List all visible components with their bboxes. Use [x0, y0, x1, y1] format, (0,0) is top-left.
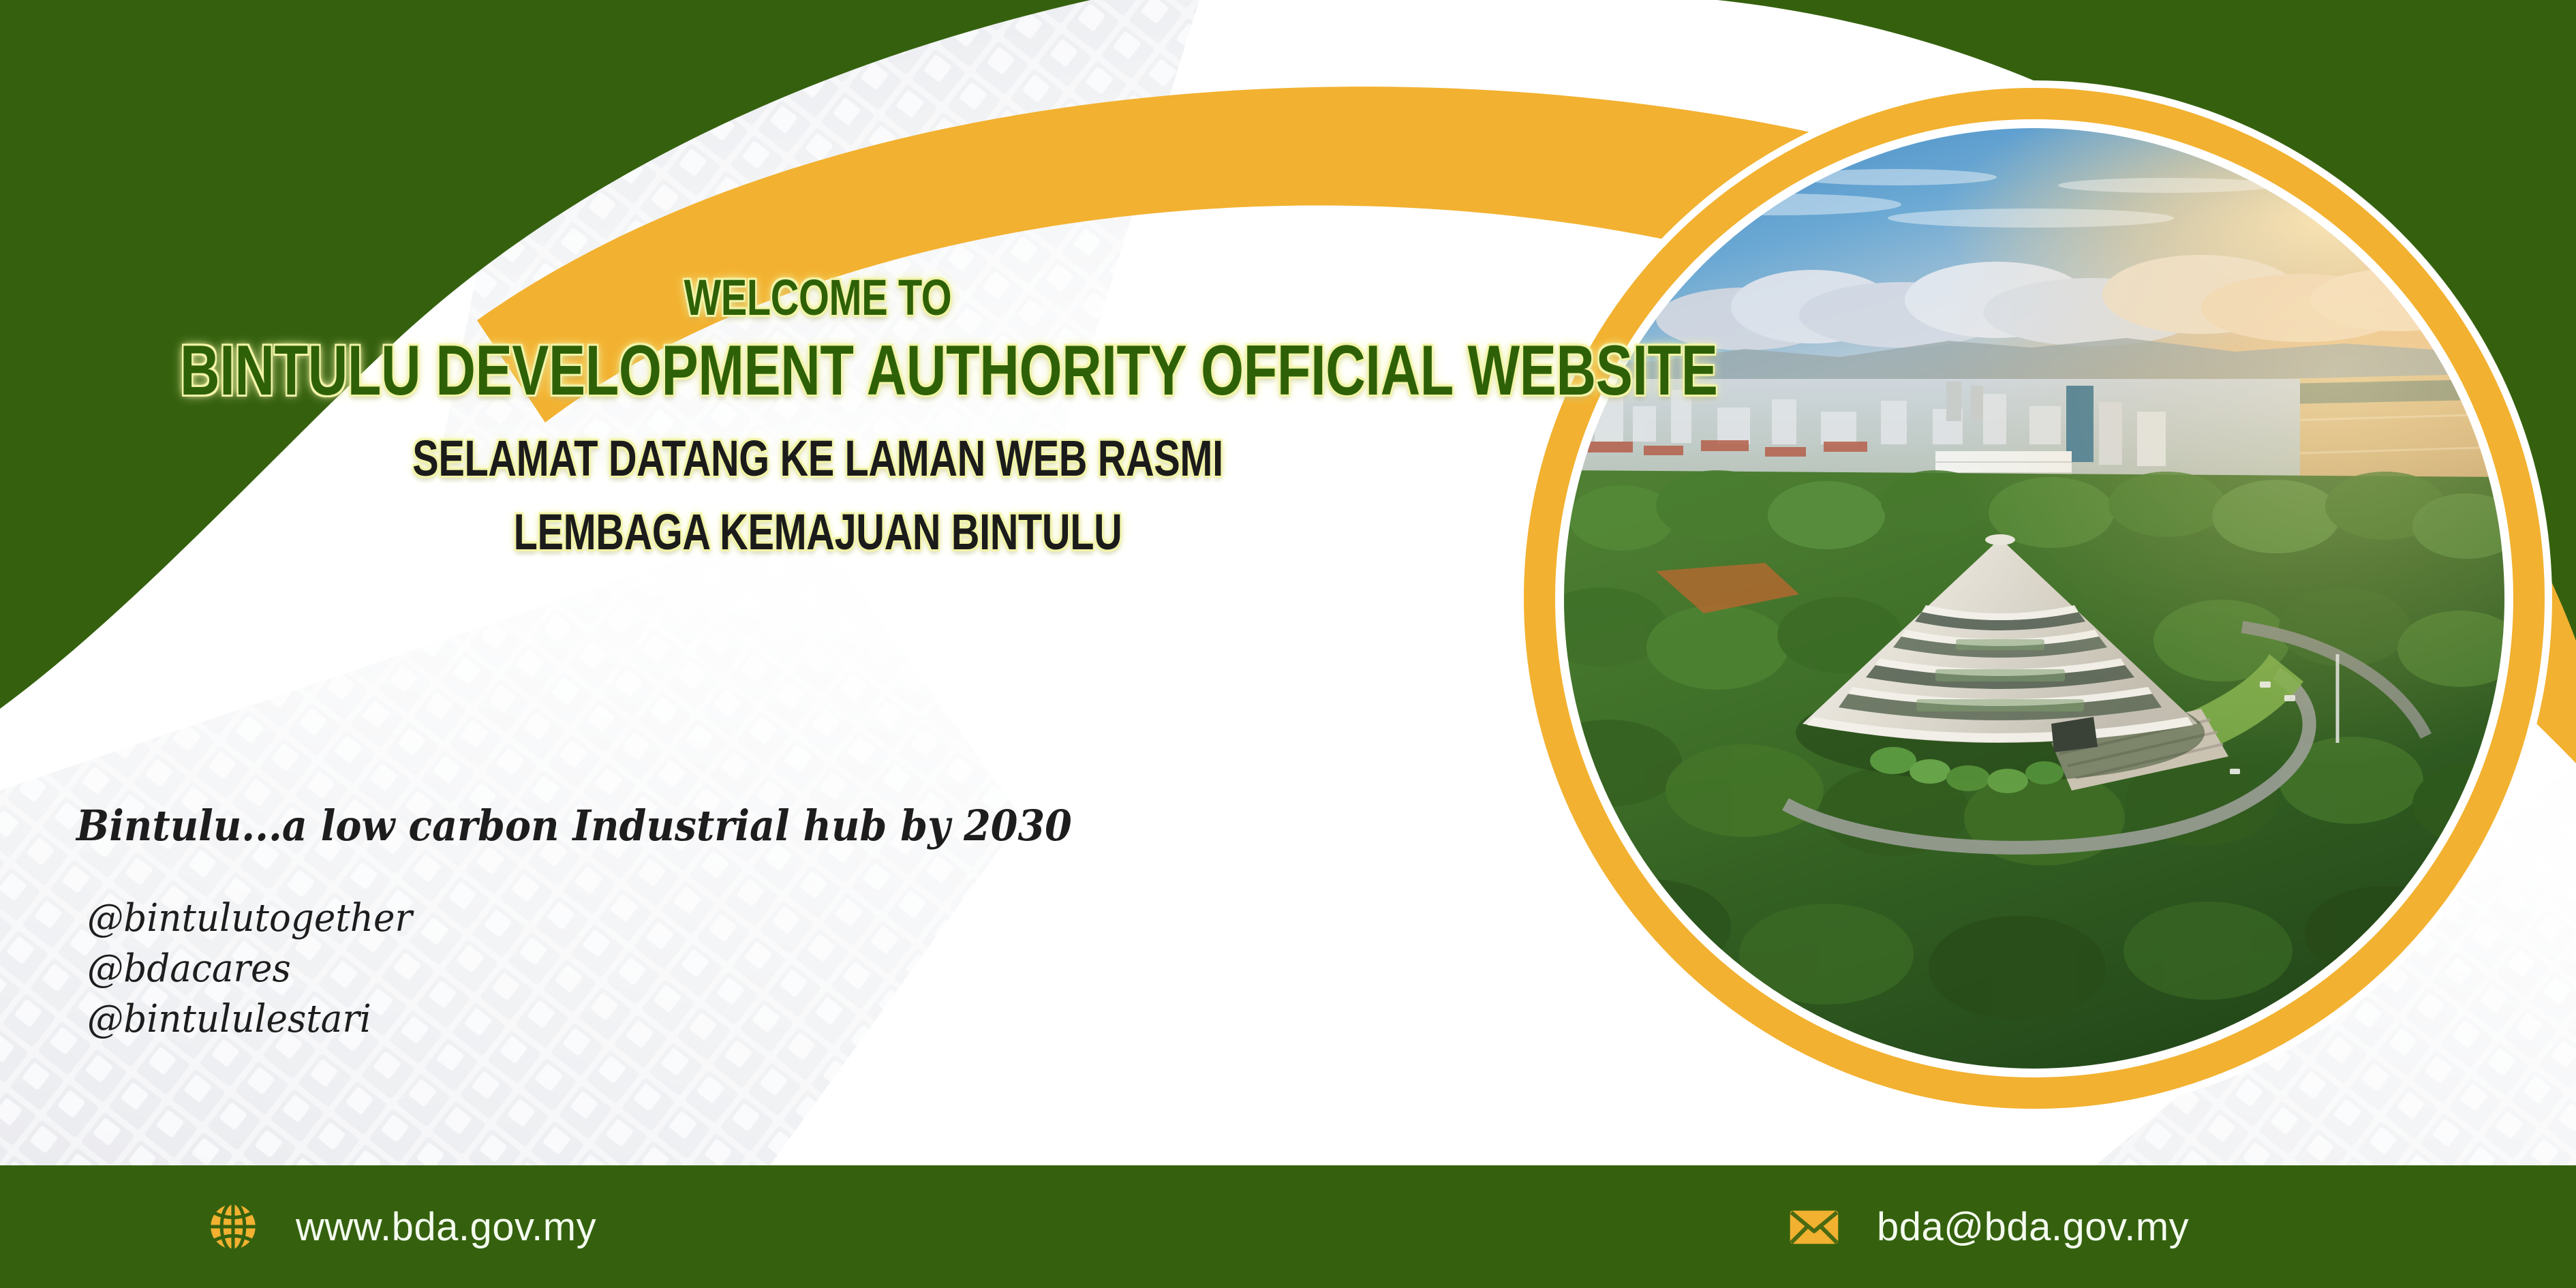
website-contact[interactable]: www.bda.gov.my: [204, 1198, 596, 1255]
envelope-icon: [1785, 1198, 1843, 1255]
tagline: Bintulu...a low carbon Industrial hub by…: [76, 801, 1072, 850]
headline-block: WELCOME TO BINTULU DEVELOPMENT AUTHORITY…: [0, 273, 1636, 557]
heading-welcome-malay: SELAMAT DATANG KE LAMAN WEB RASMI: [180, 433, 1456, 484]
heading-title-malay: LEMBAGA KEMAJUAN BINTULU: [180, 507, 1456, 557]
social-handle-bintululestari[interactable]: @bintululestari: [87, 1000, 412, 1039]
banner-background-art: [0, 0, 2576, 1288]
social-handles-list: @bintulutogether @bdacares @bintululesta…: [87, 900, 429, 1039]
bda-welcome-banner: WELCOME TO BINTULU DEVELOPMENT AUTHORITY…: [0, 0, 2576, 1288]
heading-welcome: WELCOME TO: [180, 273, 1456, 323]
email-address[interactable]: bda@bda.gov.my: [1877, 1204, 2189, 1250]
footer-contact-bar: www.bda.gov.my bda@bda.gov.my: [0, 1165, 2576, 1288]
social-handle-bdacares[interactable]: @bdacares: [87, 950, 412, 988]
heading-title-english: BINTULU DEVELOPMENT AUTHORITY OFFICIAL W…: [180, 335, 1456, 406]
social-handle-bintulutogether[interactable]: @bintulutogether: [87, 900, 412, 938]
email-contact[interactable]: bda@bda.gov.my: [1785, 1198, 2189, 1255]
website-url[interactable]: www.bda.gov.my: [296, 1204, 596, 1250]
globe-icon: [204, 1198, 262, 1255]
